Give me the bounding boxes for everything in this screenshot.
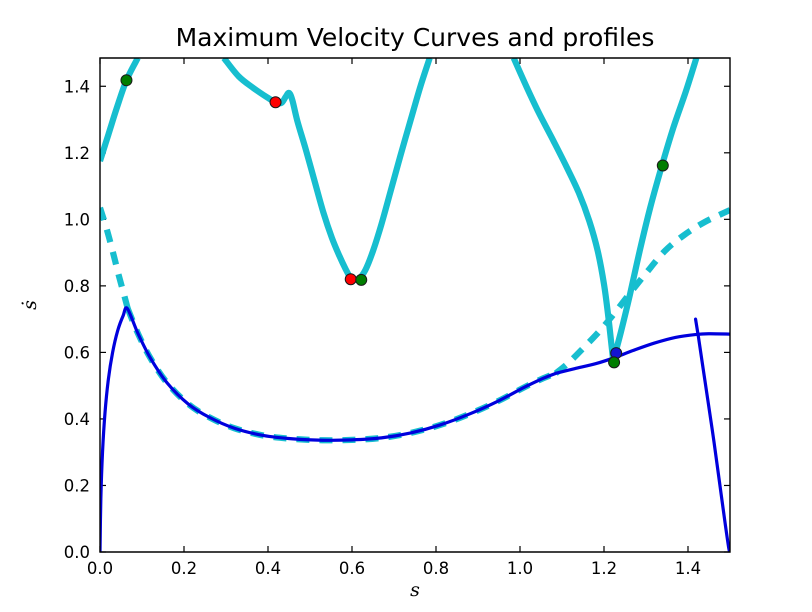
y-tick-label: 0.0 [64,543,90,562]
plot-canvas: Maximum Velocity Curves and profiles 0.0… [0,0,812,612]
red-switch-point-1 [270,97,281,108]
y-tick-label: 1.0 [64,210,90,229]
x-tick-label: 1.4 [675,559,701,578]
y-tick-label: 1.4 [64,77,90,96]
y-tick-label: 0.4 [64,410,90,429]
x-tick-label: 0.6 [339,559,365,578]
y-tick-label: 0.6 [64,343,90,362]
x-tick-label: 0.8 [423,559,449,578]
green-switch-point-2 [356,274,367,285]
x-tick-label: 1.2 [591,559,617,578]
green-switch-point-1 [121,75,132,86]
y-axis-label: ṡ [19,300,41,310]
y-tick-label: 0.8 [64,277,90,296]
x-tick-label: 0.2 [171,559,197,578]
green-switch-point-3 [657,160,668,171]
x-tick-label: 0.4 [255,559,281,578]
axes-background [100,58,730,552]
green-switch-point-4 [609,357,620,368]
x-tick-label: 1.0 [507,559,533,578]
matplotlib-figure: Maximum Velocity Curves and profiles 0.0… [0,0,812,612]
red-switch-point-2 [345,274,356,285]
chart-title: Maximum Velocity Curves and profiles [176,23,655,52]
y-tick-label: 1.2 [64,144,90,163]
x-axis-label: s [410,579,420,601]
x-tick-label: 0.0 [87,559,113,578]
y-tick-label: 0.2 [64,476,90,495]
